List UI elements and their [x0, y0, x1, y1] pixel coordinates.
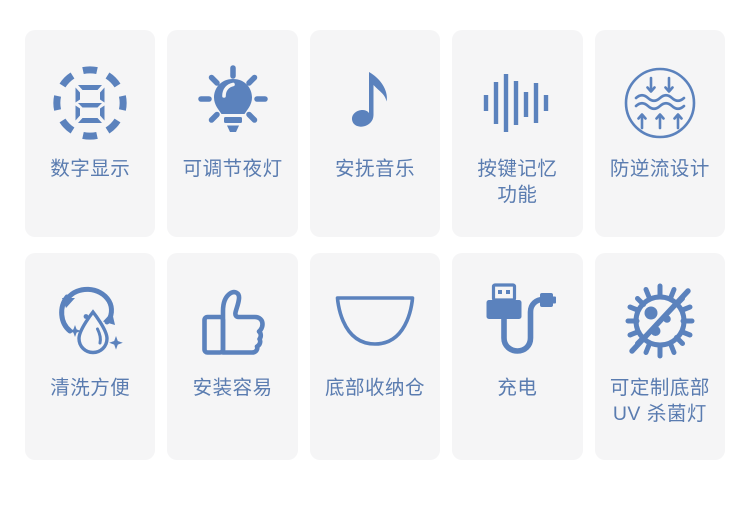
feature-label: 可调节夜灯 [177, 156, 289, 182]
feature-label: 底部收纳仓 [319, 375, 431, 401]
anti-backflow-icon [618, 64, 702, 142]
feature-row-1: 数字显示 [25, 30, 725, 237]
feature-card-uv-sterilization[interactable]: 可定制底部 UV 杀菌灯 [595, 253, 725, 460]
uv-germ-free-icon [618, 279, 702, 363]
adjustable-night-light-icon [191, 64, 275, 142]
feature-label: 按键记忆 功能 [471, 156, 563, 208]
feature-card-bottom-storage[interactable]: 底部收纳仓 [310, 253, 440, 460]
feature-label: 充电 [491, 375, 543, 401]
feature-card-night-light[interactable]: 可调节夜灯 [167, 30, 297, 237]
feature-row-2: 清洗方便 安装容易 底部收纳仓 [25, 253, 725, 460]
thumbs-up-icon [191, 279, 275, 363]
feature-label: 安装容易 [187, 375, 279, 401]
easy-clean-droplet-icon [48, 279, 132, 363]
feature-card-easy-install[interactable]: 安装容易 [167, 253, 297, 460]
feature-card-soothing-music[interactable]: 安抚音乐 [310, 30, 440, 237]
feature-card-charging[interactable]: 充电 [452, 253, 582, 460]
digital-display-icon [48, 64, 132, 142]
feature-grid: 数字显示 [0, 0, 750, 515]
usb-charging-cable-icon [475, 279, 559, 363]
feature-card-digital-display[interactable]: 数字显示 [25, 30, 155, 237]
feature-label: 防逆流设计 [604, 156, 716, 182]
feature-label: 数字显示 [44, 156, 136, 182]
key-memory-waveform-icon [475, 64, 559, 142]
feature-label: 清洗方便 [44, 375, 136, 401]
feature-card-key-memory[interactable]: 按键记忆 功能 [452, 30, 582, 237]
feature-label: 可定制底部 UV 杀菌灯 [604, 375, 716, 427]
bottom-storage-bowl-icon [333, 279, 417, 363]
soothing-music-icon [333, 64, 417, 142]
feature-card-easy-clean[interactable]: 清洗方便 [25, 253, 155, 460]
feature-label: 安抚音乐 [329, 156, 421, 182]
feature-card-anti-backflow[interactable]: 防逆流设计 [595, 30, 725, 237]
